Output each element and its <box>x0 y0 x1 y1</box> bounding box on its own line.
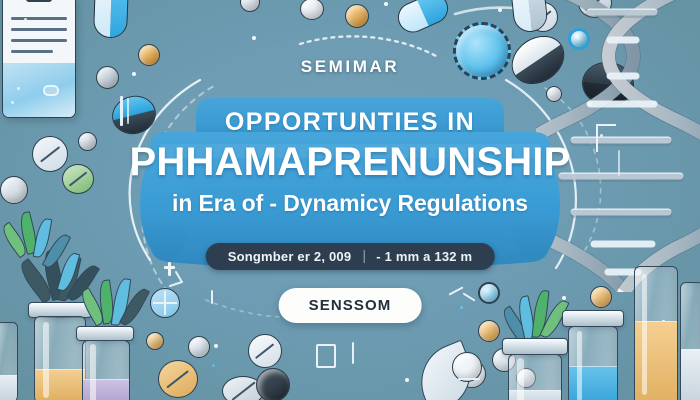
sparkle-dot <box>186 198 190 202</box>
tick-mark <box>120 96 123 126</box>
document-clip <box>26 0 52 2</box>
sparkle-dot <box>498 8 502 12</box>
tablet-pill-icon <box>345 4 369 28</box>
sparkle-dot <box>252 36 256 40</box>
date-time-badge: Songmber er 2, 009 - 1 mm a 132 m <box>206 243 495 270</box>
tick-mark <box>211 290 213 304</box>
tube-liquid <box>0 375 17 400</box>
tube-gloss <box>43 322 49 399</box>
tube-gloss <box>577 331 583 400</box>
plus-marker-icon <box>164 262 174 276</box>
sparkle-dot <box>17 87 20 90</box>
subtitle-text: in Era of - Dynamicy Regulations <box>0 190 700 217</box>
date-text: Songmber er 2, 009 <box>228 249 352 264</box>
sparkle-dot <box>212 364 215 367</box>
document-line <box>11 28 67 31</box>
leaf-icon <box>499 305 530 342</box>
sparkle-dot <box>588 102 592 106</box>
tube-gloss <box>517 358 523 400</box>
badge-separator <box>363 250 364 263</box>
test-tube-cap <box>562 310 624 327</box>
leaf-icon <box>532 289 550 338</box>
tube-liquid <box>681 349 700 400</box>
tablet-pill-icon <box>300 0 324 20</box>
test-tube-icon <box>82 340 130 400</box>
tick-mark <box>352 342 354 364</box>
tick-mark <box>127 98 129 124</box>
tablet-pill-icon <box>248 334 282 368</box>
capsule-pill-icon <box>93 0 129 39</box>
frame-outline <box>316 344 336 368</box>
tick-mark <box>448 286 463 295</box>
leaf-icon <box>119 285 150 328</box>
headline-line-2: PHHAMAPRENUNSHIP <box>0 140 700 185</box>
document-line <box>11 39 67 42</box>
tablet-pill-icon <box>590 286 612 308</box>
sparkle-dot <box>405 378 409 382</box>
sparkle-dot <box>562 296 566 300</box>
tablet-pill-icon <box>158 360 198 398</box>
tick-mark <box>463 292 476 301</box>
sparkle-dot <box>384 2 388 6</box>
tick-mark <box>458 378 480 380</box>
test-tube-icon <box>568 326 618 400</box>
sparkle-dot <box>214 344 218 348</box>
leaf-icon <box>111 277 132 326</box>
tablet-pill-icon <box>150 288 180 318</box>
tablet-pill-icon <box>188 336 210 358</box>
test-tube-icon <box>634 266 678 400</box>
tube-gloss <box>90 344 96 400</box>
capsule-half <box>110 0 128 38</box>
test-tube-icon <box>0 322 18 400</box>
test-tube-icon <box>680 282 700 400</box>
time-text: - 1 mm a 132 m <box>376 249 472 264</box>
sparkle-dot <box>24 18 27 21</box>
tablet-pill-icon <box>240 0 260 12</box>
tablet-pill-icon <box>146 332 164 350</box>
seminar-poster: SEMIMAR OPPORTUNTIES IN PHHAMAPRENUNSHIP… <box>0 0 700 400</box>
sparkle-dot <box>460 306 463 309</box>
frame-outline <box>596 124 616 152</box>
headline-line-1: OPPORTUNTIES IN <box>0 108 700 137</box>
test-tube-cap <box>502 338 568 355</box>
tablet-pill-icon <box>478 282 500 304</box>
test-tube-icon <box>508 354 562 400</box>
register-button[interactable]: SENSSOM <box>279 288 422 323</box>
tube-gloss <box>642 274 647 395</box>
document-line <box>11 17 67 20</box>
kicker-text: SEMIMAR <box>0 57 700 77</box>
document-line <box>11 50 53 53</box>
tick-mark <box>618 150 620 176</box>
capsule-pill-icon <box>393 0 453 37</box>
test-tube-cap <box>76 326 134 341</box>
leaf-icon <box>97 279 116 324</box>
leaf-icon <box>516 295 538 341</box>
tablet-pill-icon <box>256 368 290 400</box>
tablet-pill-icon <box>478 320 500 342</box>
